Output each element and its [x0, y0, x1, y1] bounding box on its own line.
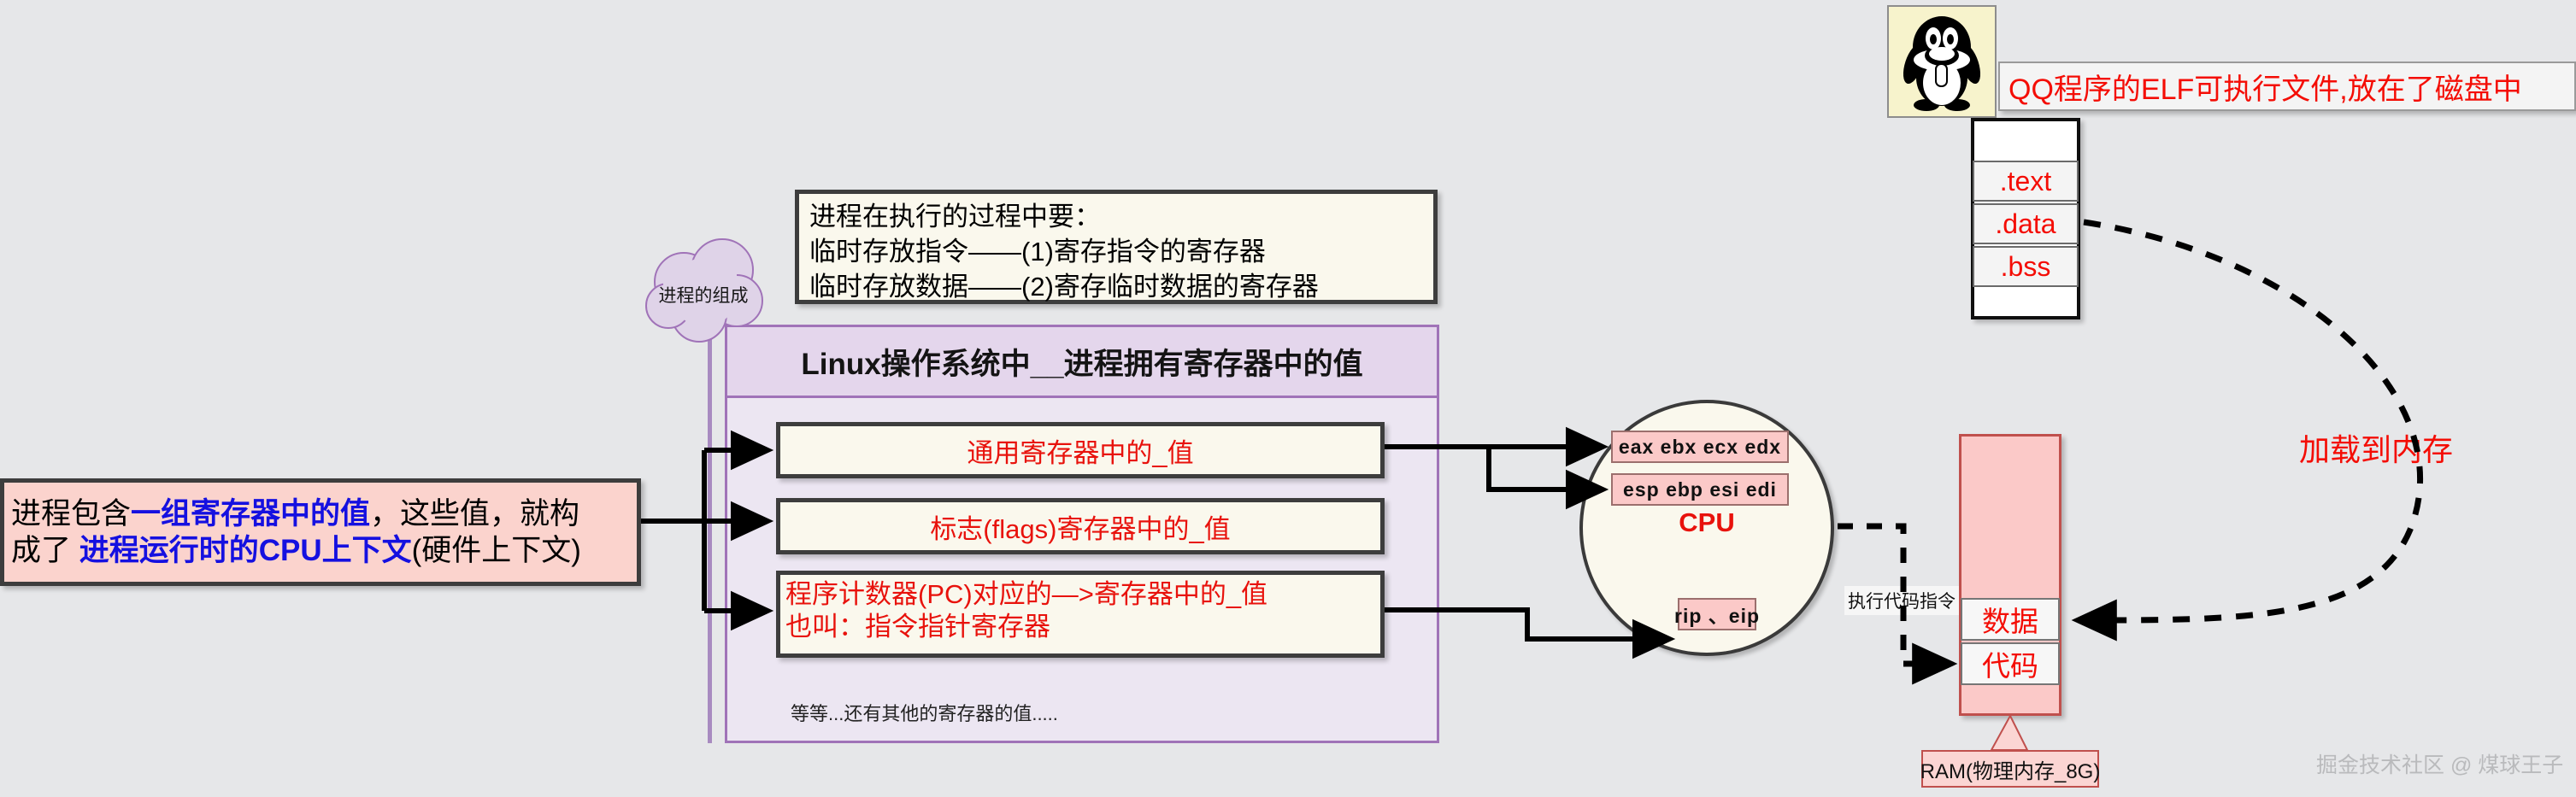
load-to-memory-annotation: 加载到内存	[2299, 425, 2453, 470]
cpu-register-eax-label: eax ebx ecx edx	[1619, 436, 1781, 459]
elf-file-caption: QQ程序的ELF可执行文件,放在了磁盘中	[1998, 62, 2576, 111]
notes-line-1: 进程在执行的过程中要：	[809, 199, 1425, 234]
ram-cell-data: 数据	[1961, 598, 2060, 641]
flags-register-box: 标志(flags)寄存器中的_值	[776, 498, 1385, 554]
statement-l2-part1: 成了	[11, 534, 79, 567]
diagram-canvas: 进程包含一组寄存器中的值，这些值，就构 成了 进程运行时的CPU上下文(硬件上下…	[0, 0, 2576, 797]
program-counter-register-box: 程序计数器(PC)对应的—>寄存器中的_值 也叫：指令指针寄存器	[776, 571, 1385, 658]
ram-cell-code: 代码	[1961, 642, 2060, 685]
flags-register-label: 标志(flags)寄存器中的_值	[930, 507, 1230, 546]
cpu-register-group-eax: eax ebx ecx edx	[1611, 431, 1789, 463]
ram-callout-pointer	[1991, 716, 2027, 750]
cpu-title: CPU	[1579, 507, 1834, 538]
elf-section-bss: .bss	[1973, 246, 2079, 287]
elf-section-bss-label: .bss	[2001, 251, 2051, 283]
elf-file-caption-label: QQ程序的ELF可执行文件,放在了磁盘中	[2008, 66, 2522, 108]
ram-cell-code-label: 代码	[1982, 643, 2038, 684]
process-context-statement-box: 进程包含一组寄存器中的值，这些值，就构 成了 进程运行时的CPU上下文(硬件上下…	[0, 478, 641, 586]
ram-callout-label: RAM(物理内存_8G)	[1921, 750, 2099, 788]
cpu-register-group-rip: rip 、eip	[1678, 598, 1756, 630]
statement-l2-highlight: 进程运行时的CPU上下文	[79, 534, 412, 567]
execute-code-annotation: 执行代码指令	[1844, 586, 1959, 615]
general-purpose-register-box: 通用寄存器中的_值	[776, 422, 1385, 478]
watermark: 掘金技术社区 @ 煤球王子	[2316, 748, 2563, 779]
panel-header-bar: Linux操作系统中__进程拥有寄存器中的值	[725, 325, 1439, 398]
elf-section-data: .data	[1973, 203, 2079, 244]
connector-elf-to-ram-data	[2079, 222, 2420, 620]
elf-section-text: .text	[1973, 161, 2079, 202]
statement-l1-part1: 进程包含	[11, 497, 131, 530]
panel-footer-note: 等等...还有其他的寄存器的值.....	[791, 699, 1058, 726]
statement-line-2: 成了 进程运行时的CPU上下文(硬件上下文)	[11, 532, 581, 569]
statement-l1-part2: ，这些值，就构	[370, 497, 579, 530]
ram-cell-data-label: 数据	[1982, 599, 2038, 640]
pc-register-line-2: 也叫：指令指针寄存器	[785, 611, 1379, 643]
qq-program-icon-box	[1887, 5, 1997, 118]
elf-section-text-label: .text	[2000, 166, 2051, 197]
statement-line-1: 进程包含一组寄存器中的值，这些值，就构	[11, 495, 581, 532]
qq-penguin-icon	[1897, 11, 1986, 112]
elf-section-data-label: .data	[1995, 208, 2056, 240]
general-purpose-register-label: 通用寄存器中的_值	[967, 431, 1193, 470]
pc-register-line-1: 程序计数器(PC)对应的—>寄存器中的_值	[785, 578, 1379, 611]
notes-line-2: 临时存放指令——(1)寄存指令的寄存器	[809, 234, 1425, 269]
ram-callout-text: RAM(物理内存_8G)	[1920, 754, 2101, 784]
cpu-register-group-esp: esp ebp esi edi	[1611, 473, 1789, 506]
cpu-register-esp-label: esp ebp esi edi	[1623, 478, 1777, 501]
process-execution-notes-box: 进程在执行的过程中要： 临时存放指令——(1)寄存指令的寄存器 临时存放数据——…	[795, 190, 1438, 304]
cloud-label: 进程的组成	[653, 282, 754, 308]
statement-l2-part2: (硬件上下文)	[412, 534, 581, 567]
panel-header-label: Linux操作系统中__进程拥有寄存器中的值	[801, 340, 1362, 384]
cpu-register-rip-label: rip 、eip	[1674, 600, 1760, 629]
cloud-stem-line	[708, 338, 712, 743]
statement-l1-highlight: 一组寄存器中的值	[131, 497, 370, 530]
notes-line-3: 临时存放数据——(2)寄存临时数据的寄存器	[809, 269, 1425, 304]
